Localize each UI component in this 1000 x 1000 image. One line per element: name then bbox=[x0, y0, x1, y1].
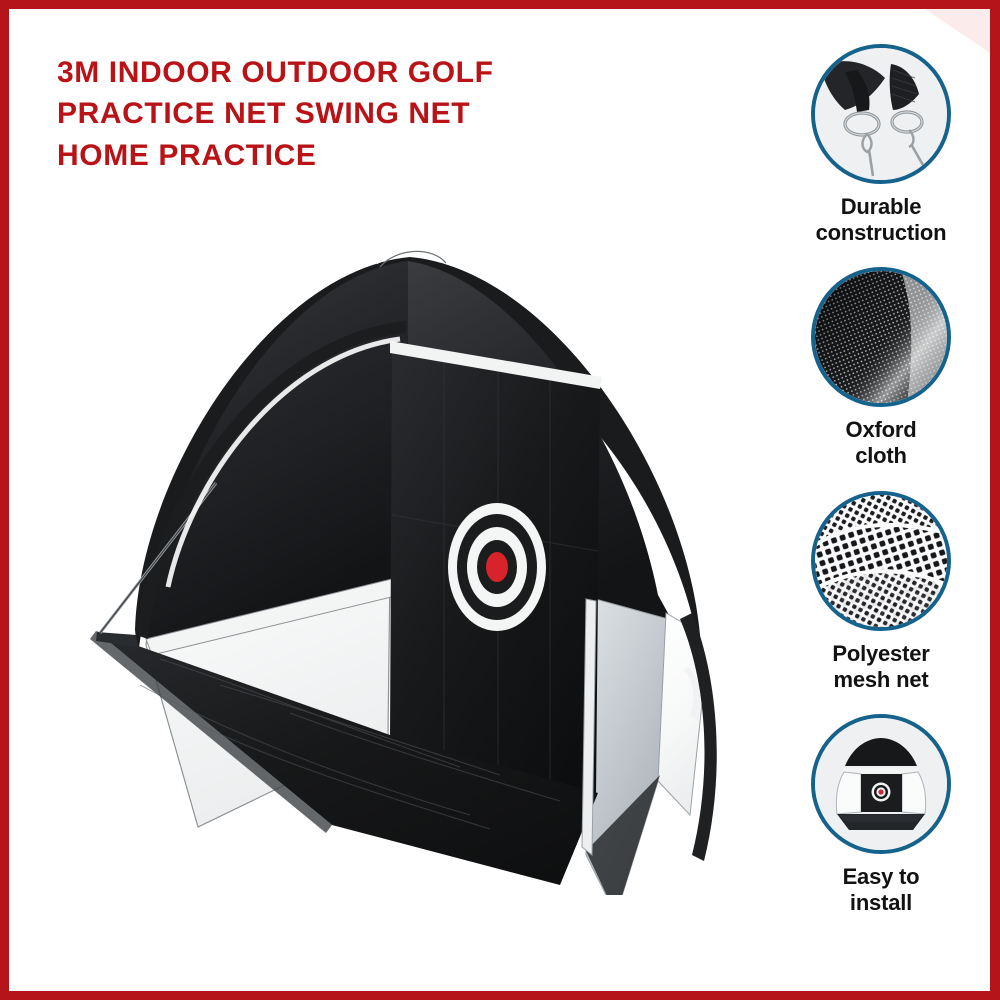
tent-canopy-left bbox=[146, 261, 408, 639]
feature-label-line-1: Polyester bbox=[776, 641, 986, 667]
feature-callout-list: Durable construction bbox=[776, 40, 986, 922]
product-banner: 3M INDOOR OUTDOOR GOLF PRACTICE NET SWIN… bbox=[0, 0, 1000, 1000]
product-title: 3M INDOOR OUTDOOR GOLF PRACTICE NET SWIN… bbox=[57, 52, 637, 176]
feature-durable-construction: Durable construction bbox=[776, 44, 986, 245]
feature-label-line-1: Oxford bbox=[776, 417, 986, 443]
feature-easy-to-install: Easy to install bbox=[776, 714, 986, 915]
feature-label-line-2: mesh net bbox=[776, 667, 986, 693]
feature-label-line-2: cloth bbox=[776, 443, 986, 469]
feature-oxford-cloth: Oxford cloth bbox=[776, 267, 986, 468]
feature-label-oxford-cloth: Oxford cloth bbox=[776, 417, 986, 468]
feature-label-polyester-mesh-net: Polyester mesh net bbox=[776, 641, 986, 692]
icon-bullseye bbox=[872, 783, 891, 802]
feature-label-durable-construction: Durable construction bbox=[776, 194, 986, 245]
frame-border-right bbox=[990, 0, 1000, 1000]
feature-label-line-1: Durable bbox=[776, 194, 986, 220]
product-image-golf-net bbox=[40, 215, 780, 895]
feature-label-line-2: install bbox=[776, 890, 986, 916]
frame-border-left bbox=[0, 0, 9, 1000]
woven-fabric-icon bbox=[811, 267, 951, 407]
product-title-line-2: PRACTICE NET SWING NET bbox=[57, 93, 637, 134]
product-title-line-1: 3M INDOOR OUTDOOR GOLF bbox=[57, 52, 637, 93]
tent-front-view-icon bbox=[811, 714, 951, 854]
frame-border-bottom bbox=[0, 991, 1000, 1000]
feature-label-easy-to-install: Easy to install bbox=[776, 864, 986, 915]
feature-label-line-2: construction bbox=[776, 220, 986, 246]
product-title-line-3: HOME PRACTICE bbox=[57, 135, 637, 176]
frame-border-top bbox=[0, 0, 1000, 9]
bullseye-target bbox=[448, 503, 546, 631]
mesh-net-icon bbox=[811, 491, 951, 631]
feature-polyester-mesh-net: Polyester mesh net bbox=[776, 491, 986, 692]
strap-d-ring-icon bbox=[811, 44, 951, 184]
feature-label-line-1: Easy to bbox=[776, 864, 986, 890]
